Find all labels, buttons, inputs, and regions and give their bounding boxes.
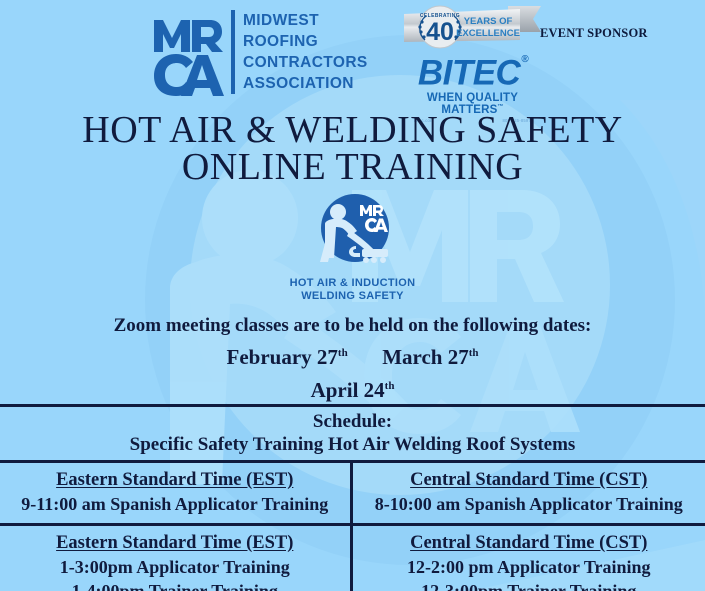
date-march-month: March (382, 345, 442, 369)
date-february: February 27th (227, 345, 348, 369)
table-cell-eastern-2: Eastern Standard Time (EST) 1-3:00pm App… (0, 526, 353, 591)
table-cell-central-2: Central Standard Time (CST) 12-2:00 pm A… (353, 526, 705, 591)
page-title-line1: HOT AIR & WELDING SAFETY (0, 112, 705, 149)
date-february-month: February (227, 345, 312, 369)
event-sponsor-label: EVENT SPONSOR (540, 26, 648, 41)
date-april-month: April (311, 378, 359, 402)
schedule-table: Eastern Standard Time (EST) 9-11:00 am S… (0, 463, 705, 591)
mrca-monogram-icon (152, 8, 224, 96)
schedule-heading-block: Schedule: Specific Safety Training Hot A… (0, 407, 705, 460)
dates-section: Zoom meeting classes are to be held on t… (0, 314, 705, 404)
badge-caption: HOT AIR & INDUCTION WELDING SAFETY (0, 277, 705, 303)
bitec-brand-wordmark: BITEC® (418, 53, 527, 91)
anniversary-ribbon-icon: CELEBRATING 40 YEARS OF EXCELLENCE (400, 2, 545, 52)
bitec-sponsor-logo: CELEBRATING 40 YEARS OF EXCELLENCE BITEC… (400, 2, 545, 123)
hot-air-welding-badge-icon (300, 194, 406, 270)
badge-caption-line1: HOT AIR & INDUCTION (0, 277, 705, 290)
session-eastern-2-line1: 1-3:00pm Applicator Training (4, 555, 346, 579)
session-central-1-line1: 8-10:00 am Spanish Applicator Training (357, 492, 702, 516)
mrca-association-logo: MIDWEST ROOFING CONTRACTORS ASSOCIATION (152, 8, 368, 96)
registered-mark: ® (521, 54, 528, 65)
mrca-word-3: CONTRACTORS (243, 53, 368, 73)
table-cell-eastern-1: Eastern Standard Time (EST) 9-11:00 am S… (0, 463, 353, 523)
flyer-poster: MIDWEST ROOFING CONTRACTORS ASSOCIATION (0, 0, 705, 591)
table-row: Eastern Standard Time (EST) 9-11:00 am S… (0, 463, 705, 523)
date-april: April 24th (311, 378, 395, 402)
timezone-heading-central-2: Central Standard Time (CST) (357, 532, 702, 555)
date-february-day: 27 (317, 345, 338, 369)
mrca-wordmark: MIDWEST ROOFING CONTRACTORS ASSOCIATION (231, 10, 368, 94)
bitec-brand-text: BITEC (418, 54, 521, 93)
timezone-heading-eastern-2: Eastern Standard Time (EST) (4, 532, 346, 555)
date-april-ordinal: th (385, 380, 395, 392)
mrca-word-2: ROOFING (243, 32, 368, 52)
date-march-ordinal: th (469, 347, 479, 359)
svg-text:EXCELLENCE: EXCELLENCE (456, 28, 520, 39)
badge-caption-line2: WELDING SAFETY (0, 290, 705, 303)
safety-program-badge: HOT AIR & INDUCTION WELDING SAFETY (0, 194, 705, 303)
date-april-day: 24 (364, 378, 385, 402)
schedule-row-divider (0, 523, 705, 526)
mrca-word-4: ASSOCIATION (243, 74, 368, 94)
session-central-2-line1: 12-2:00 pm Applicator Training (357, 555, 702, 579)
dates-lead-text: Zoom meeting classes are to be held on t… (0, 314, 705, 338)
dates-row-2: April 24th (0, 373, 705, 404)
svg-text:YEARS OF: YEARS OF (464, 16, 513, 27)
table-row: Eastern Standard Time (EST) 1-3:00pm App… (0, 526, 705, 591)
page-title: HOT AIR & WELDING SAFETY ONLINE TRAINING (0, 112, 705, 186)
timezone-heading-eastern-1: Eastern Standard Time (EST) (4, 469, 346, 492)
timezone-heading-central-1: Central Standard Time (CST) (357, 469, 702, 492)
table-cell-central-1: Central Standard Time (CST) 8-10:00 am S… (353, 463, 705, 523)
schedule-heading: Schedule: (0, 410, 705, 433)
session-central-2-line2: 12-3:00pm Trainer Training (357, 579, 702, 591)
svg-text:40: 40 (426, 18, 454, 46)
mrca-word-1: MIDWEST (243, 11, 368, 31)
dates-row-1: February 27th March 27th (0, 340, 705, 371)
header: MIDWEST ROOFING CONTRACTORS ASSOCIATION (0, 0, 705, 108)
date-february-ordinal: th (338, 347, 348, 359)
date-march: March 27th (382, 345, 478, 369)
schedule-subheading: Specific Safety Training Hot Air Welding… (0, 433, 705, 457)
session-eastern-2-line2: 1-4:00pm Trainer Training (4, 579, 346, 591)
session-eastern-1-line1: 9-11:00 am Spanish Applicator Training (4, 492, 346, 516)
page-title-line2: ONLINE TRAINING (0, 149, 705, 186)
date-march-day: 27 (448, 345, 469, 369)
